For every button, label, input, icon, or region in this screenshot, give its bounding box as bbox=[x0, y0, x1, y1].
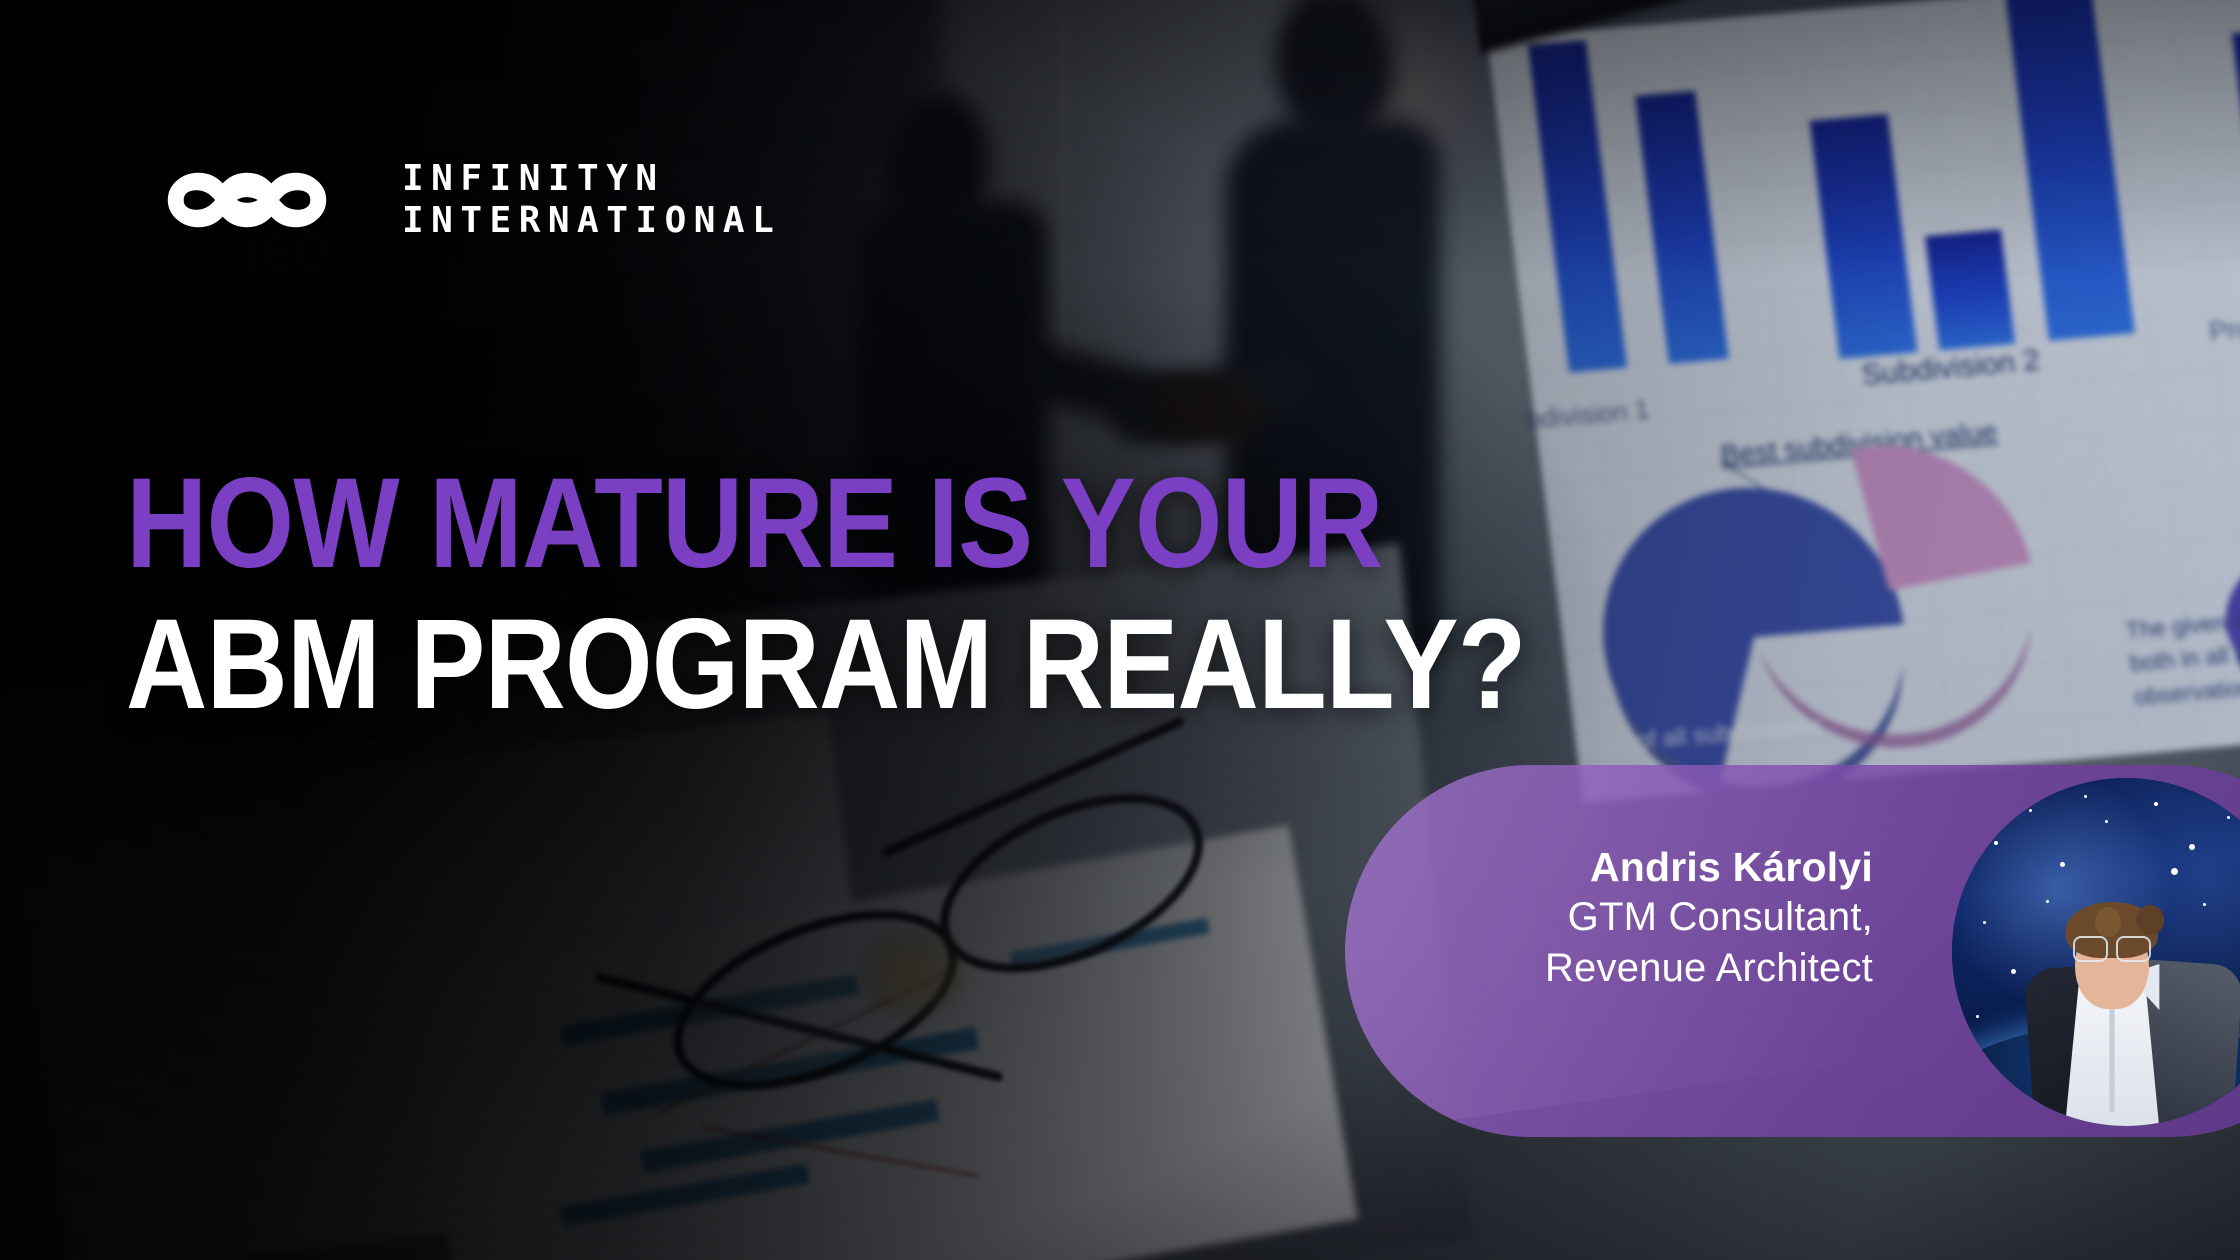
headline-line-2: ABM PROGRAM REALLY? bbox=[126, 607, 1526, 722]
headline-line-1: HOW MATURE IS YOUR bbox=[126, 466, 1526, 581]
speaker-role-line-2: Revenue Architect bbox=[1545, 944, 1873, 993]
speaker-name: Andris Károlyi bbox=[1545, 843, 1873, 891]
speaker-card: Andris Károlyi GTM Consultant, Revenue A… bbox=[1345, 765, 2240, 1137]
speaker-avatar bbox=[1952, 778, 2240, 1126]
brand-name: INFINITYN INTERNATIONAL bbox=[402, 158, 781, 243]
hair-curl bbox=[2095, 907, 2121, 937]
speaker-portrait bbox=[1952, 778, 2240, 1126]
shirt-placket bbox=[2110, 994, 2115, 1112]
promo-banner: 360 aug. sep. nov. bbox=[0, 0, 2240, 1260]
double-infinity-logo-icon bbox=[138, 158, 356, 242]
speaker-role-line-1: GTM Consultant, bbox=[1545, 893, 1873, 942]
hair-curl bbox=[2136, 905, 2164, 935]
eyeglasses-icon bbox=[2073, 936, 2151, 958]
brand-logo[interactable]: INFINITYN INTERNATIONAL bbox=[138, 158, 781, 243]
headline-block: HOW MATURE IS YOUR ABM PROGRAM REALLY? bbox=[126, 466, 1717, 722]
speaker-details: Andris Károlyi GTM Consultant, Revenue A… bbox=[1545, 843, 1873, 993]
